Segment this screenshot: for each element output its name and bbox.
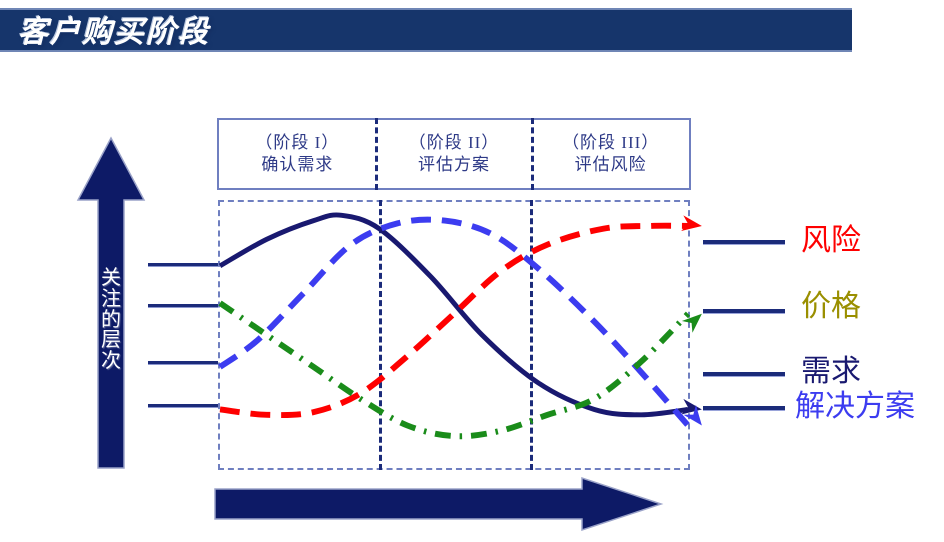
attention-arrow-shape <box>76 136 146 470</box>
process-flow-arrow <box>212 476 664 532</box>
legend-label-risk[interactable]: 风险 <box>801 226 861 256</box>
left-tick-line-1 <box>148 263 220 267</box>
stage-cell-2[interactable]: （阶段 II） 评估方案 <box>376 120 533 188</box>
chart-series-group <box>220 215 708 436</box>
stage-2-phase: （阶段 II） <box>409 132 500 154</box>
attention-axis-arrow: 关 注 的 层 次 <box>76 136 146 470</box>
legend-label-solution[interactable]: 解决方案 <box>795 392 915 422</box>
legend-label-price[interactable]: 价格 <box>801 292 861 322</box>
slide-canvas: 客户购买阶段 关 注 的 层 次 （阶段 I） 确认需求 （阶段 II） 评估方… <box>0 0 944 542</box>
left-tick-line-2 <box>148 304 220 308</box>
legend-line-solution <box>703 406 785 411</box>
stage-2-title: 评估方案 <box>418 154 490 176</box>
stage-3-phase: （阶段 III） <box>562 132 659 154</box>
chart-curves-svg <box>220 202 688 468</box>
chart-series-解决方案 <box>220 220 688 426</box>
page-title: 客户购买阶段 <box>18 7 210 51</box>
legend-line-price <box>703 309 785 314</box>
stage-cell-3[interactable]: （阶段 III） 评估风险 <box>532 120 689 188</box>
stage-cell-1[interactable]: （阶段 I） 确认需求 <box>219 120 376 188</box>
left-tick-line-4 <box>148 404 220 408</box>
legend-label-demand[interactable]: 需求 <box>801 357 861 387</box>
legend-line-risk <box>703 240 785 245</box>
chart-plot-area <box>218 200 690 470</box>
left-tick-line-3 <box>148 361 220 365</box>
stage-1-title: 确认需求 <box>261 154 333 176</box>
process-arrow-shape <box>212 476 664 532</box>
chart-series-风险 <box>220 226 688 415</box>
stage-1-phase: （阶段 I） <box>255 132 339 154</box>
legend-line-demand <box>703 372 785 377</box>
stage-header-box: （阶段 I） 确认需求 （阶段 II） 评估方案 （阶段 III） 评估风险 <box>217 118 691 190</box>
stage-3-title: 评估风险 <box>575 154 647 176</box>
slide-title-bar: 客户购买阶段 <box>0 8 852 52</box>
